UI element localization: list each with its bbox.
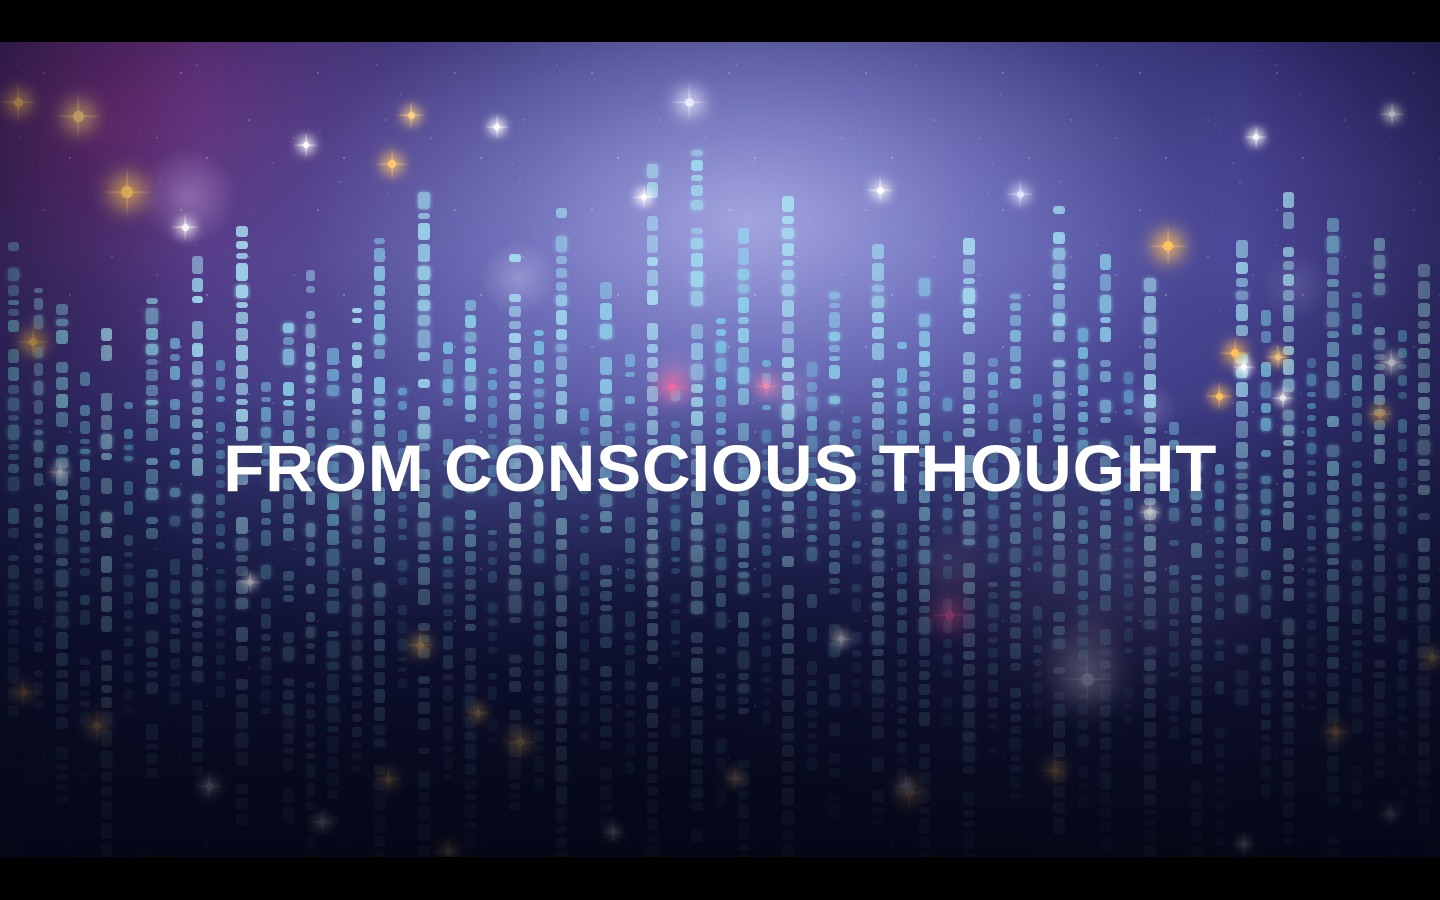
data-stream-segment (1144, 278, 1156, 292)
data-stream-segment (236, 459, 248, 469)
data-stream-segment (56, 504, 68, 521)
data-stream-segment (691, 566, 703, 577)
data-stream-segment (1374, 523, 1385, 540)
data-stream-segment (1078, 385, 1088, 396)
data-stream-segment (306, 742, 315, 748)
data-stream-segment (534, 389, 544, 397)
data-stream-segment (556, 374, 567, 387)
data-stream-segment (1307, 482, 1316, 495)
data-stream-segment (782, 228, 794, 239)
data-stream-segment (1283, 605, 1294, 615)
data-stream-segment (716, 575, 726, 588)
data-stream-segment (1010, 602, 1021, 610)
data-stream-segment (691, 214, 703, 224)
data-stream-segment (534, 601, 544, 616)
data-stream-segment (8, 285, 19, 296)
data-stream-segment (600, 357, 612, 375)
data-stream-segment (1327, 645, 1339, 653)
data-stream-segment (34, 596, 43, 609)
data-stream-segment (625, 722, 635, 738)
data-stream-segment (80, 421, 90, 434)
data-stream-segment (1374, 635, 1385, 642)
data-stream-segment (465, 624, 476, 631)
data-stream-segment (897, 784, 907, 796)
data-stream-segment (465, 376, 476, 391)
data-stream-segment (534, 777, 544, 789)
data-stream-segment (398, 560, 407, 571)
data-stream-segment (192, 671, 203, 682)
data-stream-segment (1418, 424, 1430, 436)
data-stream-segment (534, 480, 544, 494)
data-stream-segment (1261, 659, 1271, 671)
data-stream-segment (465, 551, 476, 562)
data-stream-segment (963, 680, 975, 691)
data-stream-segment (782, 745, 794, 757)
data-stream-column (216, 360, 225, 690)
data-stream-segment (509, 404, 521, 420)
data-stream-segment (1327, 381, 1339, 398)
data-stream-segment (56, 362, 68, 373)
data-stream-segment (782, 338, 794, 353)
data-stream-segment (1169, 565, 1179, 575)
data-stream-segment (80, 581, 90, 590)
data-stream-segment (1398, 348, 1407, 358)
data-stream-segment (306, 324, 315, 338)
data-stream-segment (1352, 609, 1362, 624)
data-stream-segment (306, 627, 315, 638)
data-stream-segment (919, 671, 930, 680)
data-stream-segment (1010, 303, 1021, 311)
data-stream-segment (283, 748, 294, 754)
data-stream-segment (352, 765, 362, 772)
data-stream-segment (691, 271, 703, 287)
data-stream-segment (738, 760, 749, 768)
data-stream-segment (56, 616, 68, 628)
data-stream-segment (647, 732, 658, 738)
data-stream-segment (600, 605, 612, 611)
data-stream-segment (170, 692, 180, 704)
data-stream-segment (1033, 672, 1042, 677)
data-stream-segment (1033, 512, 1042, 521)
data-stream-segment (374, 779, 385, 790)
data-stream-segment (8, 594, 19, 606)
data-stream-segment (170, 599, 180, 609)
data-stream-segment (306, 523, 315, 537)
data-stream-segment (738, 582, 749, 594)
data-stream-segment (8, 454, 19, 460)
data-stream-segment (1124, 435, 1133, 446)
data-stream-segment (170, 531, 180, 540)
data-stream-segment (671, 390, 680, 401)
data-stream-segment (1283, 690, 1294, 698)
data-stream-segment (782, 270, 794, 280)
data-stream-segment (1418, 604, 1430, 621)
data-stream-segment (80, 701, 90, 707)
data-stream-segment (1418, 382, 1430, 393)
data-stream-column (852, 402, 861, 702)
data-stream-segment (124, 638, 133, 647)
data-stream-segment (988, 553, 998, 563)
data-stream-segment (1307, 654, 1316, 666)
data-stream-segment (1010, 675, 1021, 684)
data-stream-segment (192, 379, 203, 387)
data-stream-segment (146, 602, 158, 614)
data-stream-segment (1215, 640, 1224, 645)
data-stream-segment (1033, 606, 1042, 620)
data-stream-segment (963, 441, 975, 451)
data-stream-segment (418, 758, 430, 768)
data-stream-column (738, 228, 749, 808)
data-stream-segment (872, 418, 884, 430)
data-stream-segment (872, 230, 884, 240)
data-stream-column (1124, 372, 1133, 712)
data-stream-segment (1124, 616, 1133, 622)
data-stream-segment (1261, 537, 1271, 551)
data-stream-segment (782, 424, 794, 438)
data-stream-segment (1169, 455, 1179, 464)
data-stream-segment (738, 297, 749, 313)
data-stream-segment (34, 457, 43, 468)
data-stream-segment (1352, 324, 1362, 335)
data-stream-segment (192, 343, 203, 357)
data-stream-segment (1374, 468, 1385, 478)
video-frame: FROM CONSCIOUS THOUGHT (0, 0, 1440, 900)
data-stream-segment (261, 397, 271, 402)
data-stream-segment (919, 381, 930, 392)
data-stream-segment (8, 464, 19, 473)
data-stream-segment (807, 382, 817, 392)
data-stream-column (192, 256, 203, 756)
data-stream-segment (327, 662, 339, 670)
data-stream-segment (988, 713, 998, 719)
data-stream-segment (418, 330, 430, 348)
data-stream-segment (488, 673, 497, 680)
data-stream-segment (192, 737, 203, 748)
data-stream-segment (872, 402, 884, 414)
data-stream-segment (418, 424, 430, 439)
data-stream-segment (1078, 591, 1088, 600)
data-stream-segment (374, 525, 385, 533)
data-stream-segment (327, 414, 339, 424)
data-stream-segment (556, 575, 567, 591)
data-stream-segment (192, 598, 203, 604)
data-stream-segment (352, 687, 362, 696)
data-stream-segment (647, 235, 658, 253)
data-stream-segment (1283, 290, 1294, 301)
data-stream-segment (509, 710, 521, 720)
data-stream-segment (101, 712, 112, 725)
data-stream-segment (988, 592, 998, 599)
data-stream-segment (327, 617, 339, 627)
data-stream-segment (1283, 802, 1294, 818)
data-stream-segment (943, 639, 952, 648)
data-stream-segment (872, 434, 884, 451)
data-stream-segment (1283, 247, 1294, 257)
data-stream-segment (488, 516, 497, 524)
data-stream-segment (8, 300, 19, 305)
data-stream-segment (509, 803, 521, 811)
data-stream-segment (101, 636, 112, 646)
data-stream-segment (146, 543, 158, 552)
data-stream-segment (1261, 436, 1271, 445)
data-stream-segment (829, 753, 840, 764)
data-stream-segment (8, 508, 19, 524)
data-stream-segment (1283, 781, 1294, 798)
data-stream-segment (580, 586, 589, 596)
data-stream-segment (647, 309, 658, 319)
data-stream-segment (807, 473, 817, 486)
data-stream-segment (34, 614, 43, 622)
data-stream-segment (1236, 645, 1248, 653)
data-stream-segment (192, 407, 203, 415)
data-stream-segment (1169, 598, 1179, 614)
data-stream-segment (807, 680, 817, 686)
data-stream-segment (716, 428, 726, 435)
data-stream-segment (1283, 326, 1294, 342)
data-stream-segment (418, 554, 430, 563)
data-stream-segment (1327, 218, 1339, 232)
data-stream-segment (1418, 333, 1430, 344)
data-stream-segment (580, 514, 589, 520)
data-stream-segment (124, 521, 133, 529)
data-stream-segment (1352, 473, 1362, 486)
data-stream-segment (306, 286, 315, 293)
data-stream-segment (716, 647, 726, 654)
data-stream-segment (1215, 802, 1224, 814)
data-stream-segment (1100, 488, 1111, 495)
data-stream-segment (170, 399, 180, 410)
data-stream-segment (170, 448, 180, 455)
data-stream-segment (236, 473, 248, 485)
data-stream-segment (216, 465, 225, 474)
data-stream-segment (1215, 651, 1224, 661)
data-stream-segment (782, 716, 794, 729)
data-stream-segment (963, 732, 975, 742)
data-stream-segment (1327, 416, 1339, 427)
data-stream-segment (1100, 360, 1111, 367)
data-stream-segment (1352, 292, 1362, 298)
data-stream-segment (1236, 631, 1248, 641)
data-stream-segment (465, 486, 476, 493)
data-stream-segment (716, 557, 726, 570)
data-stream-segment (716, 494, 726, 505)
data-stream-segment (919, 757, 930, 769)
data-stream-column (80, 372, 90, 772)
data-stream-segment (1191, 798, 1202, 808)
data-stream-segment (1053, 721, 1065, 738)
data-stream-segment (647, 640, 658, 651)
data-stream-segment (1033, 683, 1042, 693)
data-stream-segment (1261, 605, 1271, 619)
data-stream-segment (236, 253, 248, 259)
data-stream-segment (580, 526, 589, 533)
data-stream-segment (1236, 671, 1248, 685)
data-stream-segment (738, 803, 749, 819)
data-stream-segment (283, 460, 294, 474)
data-stream-column (1144, 278, 1156, 798)
data-stream-segment (807, 436, 817, 452)
data-stream-segment (418, 541, 430, 550)
data-stream-segment (216, 438, 225, 444)
data-stream-segment (556, 344, 567, 352)
data-stream-segment (625, 597, 635, 606)
data-stream-segment (1283, 671, 1294, 686)
data-stream-segment (465, 566, 476, 575)
data-stream-segment (671, 693, 680, 701)
data-stream-segment (1236, 483, 1248, 490)
data-stream-segment (488, 619, 497, 626)
data-stream-segment (534, 446, 544, 455)
data-stream-segment (963, 651, 975, 660)
data-stream-segment (1215, 464, 1224, 475)
data-stream-segment (306, 461, 315, 472)
data-stream-segment (691, 677, 703, 684)
data-stream-segment (34, 334, 43, 342)
data-stream-segment (1078, 620, 1088, 632)
data-stream-segment (146, 445, 158, 454)
data-stream-segment (443, 425, 453, 434)
data-stream-segment (1374, 770, 1385, 779)
data-stream-segment (1100, 754, 1111, 768)
data-stream-segment (782, 196, 794, 212)
data-stream-segment (1124, 452, 1133, 462)
data-stream-segment (691, 647, 703, 654)
data-stream-segment (738, 284, 749, 293)
data-stream-segment (963, 664, 975, 676)
data-stream-segment (600, 681, 612, 691)
data-stream-segment (1418, 574, 1430, 583)
data-stream-segment (352, 714, 362, 722)
data-stream-segment (56, 412, 68, 427)
data-stream-segment (1236, 657, 1248, 667)
data-stream-segment (236, 566, 248, 576)
data-stream-segment (352, 328, 362, 337)
data-stream-segment (872, 481, 884, 492)
data-stream-segment (1100, 386, 1111, 396)
data-stream-segment (34, 555, 43, 563)
data-stream-segment (600, 753, 612, 763)
data-stream-segment (374, 672, 385, 685)
data-stream-segment (1078, 704, 1088, 715)
data-stream-segment (236, 646, 248, 661)
data-stream-column (488, 368, 497, 718)
data-stream-segment (1283, 410, 1294, 421)
data-stream-segment (1236, 595, 1248, 613)
data-stream-segment (600, 708, 612, 722)
data-stream-segment (1124, 390, 1133, 403)
data-stream-segment (534, 730, 544, 741)
data-stream-segment (56, 570, 68, 587)
data-stream-segment (897, 706, 907, 713)
data-stream-segment (829, 578, 840, 584)
data-stream-segment (1236, 581, 1248, 591)
data-stream-segment (671, 580, 680, 588)
data-stream-segment (1307, 557, 1316, 562)
data-stream-segment (1236, 536, 1248, 544)
data-stream-segment (1053, 817, 1065, 835)
data-stream-segment (829, 588, 840, 594)
data-stream-segment (374, 655, 385, 668)
data-stream-segment (509, 502, 521, 519)
data-stream-segment (80, 610, 90, 625)
data-stream-segment (1327, 445, 1339, 457)
data-stream-segment (782, 467, 794, 475)
data-stream-segment (1191, 718, 1202, 734)
data-stream-segment (465, 696, 476, 712)
data-stream-segment (1078, 364, 1088, 380)
data-stream-segment (762, 574, 771, 587)
data-stream-segment (352, 462, 362, 473)
data-stream-segment (919, 617, 930, 634)
data-stream-segment (261, 518, 271, 525)
data-stream-segment (897, 672, 907, 682)
data-stream-segment (1100, 499, 1111, 506)
data-stream-segment (236, 226, 248, 237)
data-stream-segment (1053, 346, 1065, 356)
data-stream-segment (56, 394, 68, 408)
data-stream-segment (192, 432, 203, 440)
data-stream-segment (988, 648, 998, 658)
data-stream-segment (600, 591, 612, 601)
data-stream-segment (691, 788, 703, 798)
data-stream-segment (762, 663, 771, 672)
data-stream-segment (465, 497, 476, 506)
data-stream-segment (963, 338, 975, 348)
data-stream-segment (327, 674, 339, 691)
data-stream-segment (829, 598, 840, 607)
data-stream-segment (146, 647, 158, 658)
data-stream-segment (236, 694, 248, 708)
data-stream-segment (1078, 520, 1088, 529)
data-stream-segment (1124, 516, 1133, 526)
data-stream-segment (782, 556, 794, 567)
data-stream-segment (1236, 278, 1248, 287)
data-stream-segment (327, 736, 339, 753)
data-stream-segment (963, 746, 975, 762)
data-stream-segment (1327, 480, 1339, 491)
data-stream-segment (80, 495, 90, 506)
data-stream-segment (897, 368, 907, 383)
data-stream-segment (1100, 821, 1111, 832)
data-stream-segment (1033, 494, 1042, 506)
data-stream-segment (600, 666, 612, 677)
data-stream-segment (919, 699, 930, 708)
data-stream-segment (306, 510, 315, 518)
data-stream-segment (465, 524, 476, 530)
data-stream-segment (1169, 727, 1179, 739)
data-stream-segment (897, 449, 907, 456)
data-stream-segment (647, 480, 658, 494)
data-stream-segment (1191, 768, 1202, 777)
data-stream-segment (1398, 789, 1407, 796)
data-stream-segment (963, 582, 975, 594)
data-stream-segment (1307, 672, 1316, 684)
data-stream-segment (34, 315, 43, 329)
data-stream-segment (56, 733, 68, 743)
data-stream-segment (101, 345, 112, 361)
data-stream-segment (443, 621, 453, 631)
data-stream-segment (1053, 435, 1065, 442)
data-stream-segment (556, 728, 567, 742)
data-stream-segment (443, 342, 453, 354)
data-stream-segment (261, 657, 271, 670)
data-stream-segment (374, 285, 385, 296)
data-stream-segment (691, 324, 703, 339)
data-stream-segment (872, 522, 884, 533)
data-stream-segment (1283, 732, 1294, 744)
data-stream-segment (872, 561, 884, 572)
data-stream-segment (352, 409, 362, 415)
